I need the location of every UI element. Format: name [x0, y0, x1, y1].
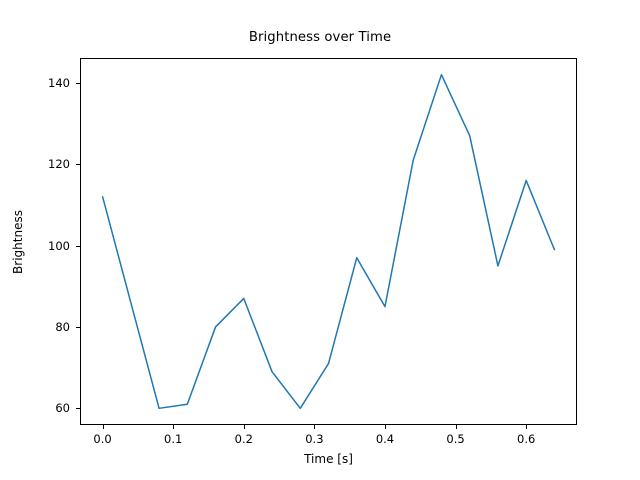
- x-tick-mark: [526, 425, 527, 429]
- x-tick-mark: [244, 425, 245, 429]
- x-axis-label: Time [s]: [80, 452, 577, 466]
- x-tick-mark: [314, 425, 315, 429]
- plot-axes: [80, 58, 577, 425]
- x-tick-mark: [456, 425, 457, 429]
- x-tick-label: 0.4: [376, 432, 394, 446]
- x-tick-label: 0.3: [305, 432, 323, 446]
- x-tick-mark: [103, 425, 104, 429]
- y-tick-mark: [76, 246, 80, 247]
- x-tick-label: 0.6: [517, 432, 535, 446]
- y-tick-mark: [76, 327, 80, 328]
- y-tick-label: 80: [0, 320, 70, 334]
- y-tick-mark: [76, 164, 80, 165]
- brightness-line-series: [103, 75, 555, 409]
- y-tick-label: 100: [0, 239, 70, 253]
- x-tick-label: 0.2: [235, 432, 253, 446]
- x-tick-label: 0.1: [164, 432, 182, 446]
- y-tick-mark: [76, 83, 80, 84]
- chart-title: Brightness over Time: [0, 30, 640, 45]
- line-series-svg: [80, 58, 577, 425]
- x-tick-mark: [173, 425, 174, 429]
- y-tick-label: 60: [0, 401, 70, 415]
- x-tick-mark: [385, 425, 386, 429]
- chart-figure: Brightness over Time Brightness Time [s]…: [0, 0, 640, 480]
- x-tick-label: 0.5: [446, 432, 464, 446]
- y-tick-mark: [76, 408, 80, 409]
- y-tick-label: 140: [0, 76, 70, 90]
- x-tick-label: 0.0: [93, 432, 111, 446]
- y-tick-label: 120: [0, 157, 70, 171]
